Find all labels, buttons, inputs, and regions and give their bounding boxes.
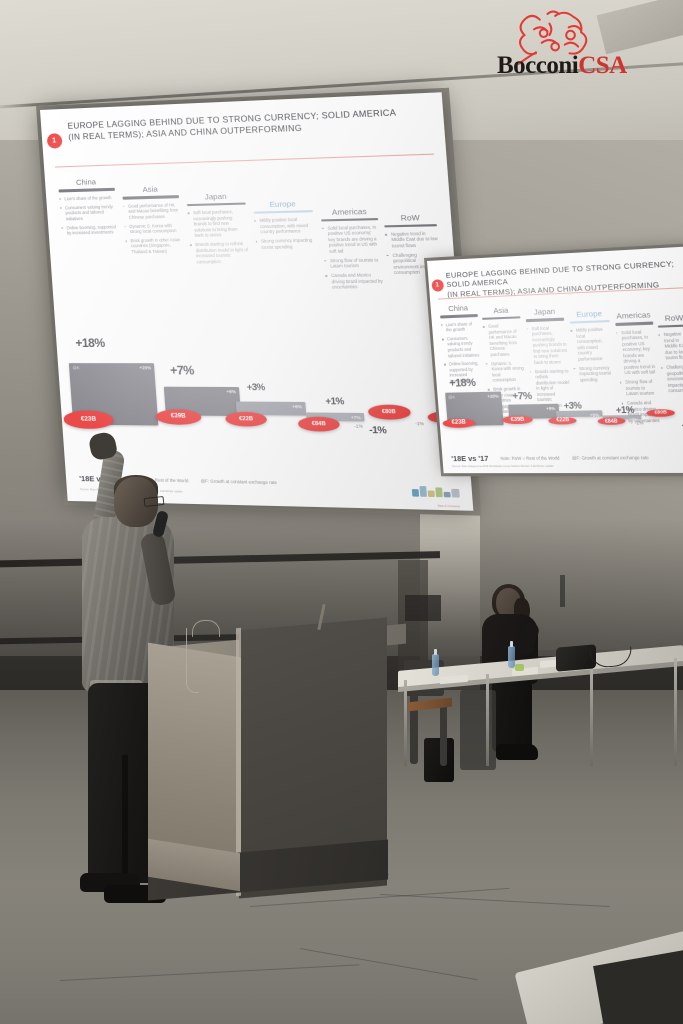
tiny-pct-a: -1% <box>635 420 644 425</box>
column-header: Americas <box>321 206 379 217</box>
list-item: Strong flow of tourists to Latam tourism <box>324 257 382 270</box>
growth-label-asia: +7% <box>169 363 194 377</box>
logo-caption: Bain & Company <box>438 504 460 508</box>
column-rule <box>657 324 683 328</box>
column-rule <box>440 314 477 318</box>
slide-canvas-secondary: 1 EUROPE LAGGING BEHIND DUE TO STRONG CU… <box>427 246 683 473</box>
constant-fx-china: +20% <box>487 393 499 398</box>
column-japan: Japan Soft local purchases, increasingly… <box>186 191 250 268</box>
table-leg <box>674 658 677 766</box>
growth-label-japan: +3% <box>563 400 581 411</box>
list-item: Negative trend in Middle East due to low… <box>385 230 438 249</box>
constant-fx-japan: +6% <box>292 404 302 409</box>
leg-gap <box>122 755 128 875</box>
value-bubble-japan: €22B <box>548 416 577 424</box>
value-bubble-japan: €22B <box>225 412 268 427</box>
list-item: Solid local purchases, in positive US ec… <box>616 329 658 377</box>
slide-title: EUROPE LAGGING BEHIND DUE TO STRONG CURR… <box>67 107 431 144</box>
value-bubble-europe: €84B <box>597 417 625 425</box>
bullet-list: Lion's share of the growth Consumers val… <box>59 195 117 237</box>
list-item: Lion's share of the growth <box>59 195 115 202</box>
table-leg <box>590 666 593 766</box>
column-header: Americas <box>614 310 653 321</box>
constant-fx-note: @K <box>448 394 455 399</box>
column-europe: Europe Mildly positive local consumption… <box>253 198 316 253</box>
secondary-projection-screen: 1 EUROPE LAGGING BEHIND DUE TO STRONG CU… <box>427 246 683 473</box>
footer-note: Note: RoW = Rest of the World <box>500 456 559 461</box>
value-bubble-asia: €39B <box>155 409 201 425</box>
footer-note-2: @F: Growth at constant exchange rate <box>572 455 649 461</box>
column-rule <box>570 320 610 324</box>
constant-fx-japan: +6% <box>590 412 600 417</box>
column-americas: Americas Solid local purchases, in posit… <box>321 206 384 294</box>
list-item: Lion's share of the growth <box>441 321 479 334</box>
column-header: Europe <box>569 308 609 319</box>
value-bubble-china: €23B <box>63 411 114 429</box>
bain-logo-icon <box>411 485 459 498</box>
list-item: Mildly positive local consumption, with … <box>570 327 613 363</box>
list-item: Consumers valuing trendy products and ta… <box>60 204 117 222</box>
lectern <box>148 614 406 898</box>
column-rule <box>122 195 179 199</box>
list-item: Brisk growth in other Asian countries (S… <box>125 237 183 255</box>
column-rule <box>385 224 437 228</box>
growth-label-asia: +7% <box>512 390 532 402</box>
column-header: Japan <box>525 307 565 318</box>
column-rule <box>59 188 115 192</box>
list-item: Consumers valuing trendy products and ta… <box>442 335 481 358</box>
column-rule <box>482 316 520 320</box>
column-rule <box>526 318 565 322</box>
footer-note-2: @F: Growth at constant exchange rate <box>201 479 278 486</box>
slide-footer: '18E vs '17 Note: RoW = Rest of the Worl… <box>451 453 683 464</box>
value-bubble-americas: €80B <box>646 409 675 417</box>
constant-fx-europe: +7% <box>351 415 361 420</box>
column-header: RoW <box>656 313 683 324</box>
list-item: Brands starting to rethink distribution … <box>190 241 250 265</box>
glasses-icon <box>144 496 165 507</box>
bullet-list: Mildly positive local consumption, with … <box>254 217 316 251</box>
column-china: China Lion's share of the growth Consume… <box>58 177 118 240</box>
market-chart: +18% @K +20% €23B +7% +9% €39B +3% +6% €… <box>437 377 683 456</box>
list-item: Online booming, supported by increased i… <box>61 224 117 236</box>
column-asia: Asia Good performance of HK and Macau be… <box>121 184 183 258</box>
tiny-pct-a: -1% <box>354 423 363 428</box>
bullet-list: Soft local purchases, increasingly pushi… <box>188 209 250 265</box>
panel-table <box>398 648 683 788</box>
column-header: Asia <box>482 305 521 316</box>
growth-label-china: +18% <box>449 377 476 390</box>
slide-source: Source: Bain-Altagamma 2018 Worldwide Lu… <box>452 464 683 468</box>
growth-label-europe: +1% <box>325 396 344 407</box>
value-bubble-americas: €80B <box>367 405 410 419</box>
list-item: Good performance of HK and Macau benefit… <box>483 323 524 358</box>
column-rule <box>321 217 378 221</box>
column-rule <box>187 202 245 206</box>
region-columns: China Lion's share of the growth Consume… <box>58 159 451 348</box>
hanging-cable <box>186 628 199 693</box>
water-bottle <box>432 654 439 676</box>
footer-period: '18E vs '17 <box>451 454 489 463</box>
lecture-hall-photo: 1 EUROPE LAGGING BEHIND DUE TO STRONG CU… <box>0 0 683 1024</box>
column-header: Japan <box>186 191 245 202</box>
column-header: Europe <box>253 198 313 209</box>
constant-fx-china: +20% <box>139 365 151 370</box>
list-item: Solid local purchases, in positive US ec… <box>322 224 381 254</box>
column-header: China <box>58 177 114 188</box>
list-item: Soft local purchases, increasingly pushi… <box>188 209 248 239</box>
slide-number-badge: 1 <box>431 279 444 292</box>
list-item: Good performance of HK and Macau benefit… <box>123 202 181 220</box>
water-bottle <box>508 646 515 668</box>
slide-number-badge: 1 <box>46 133 62 149</box>
growth-label-china: +18% <box>75 336 105 350</box>
column-rule <box>615 322 653 326</box>
list-item: Soft local purchases, increasingly pushi… <box>526 325 568 366</box>
list-item: Negative trend in Middle East due to low… <box>658 331 683 361</box>
list-item: Dynamic S. Korea with strong local consu… <box>124 222 182 235</box>
column-rule <box>253 210 313 214</box>
growth-label-americas: -1% <box>369 425 387 437</box>
constant-fx-asia: +9% <box>546 405 556 410</box>
bullet-list: Solid local purchases, in positive US ec… <box>322 224 384 290</box>
bullet-list: Mildly positive local consumption, with … <box>570 327 614 383</box>
list-item: Strong currency impacting tourist spendi… <box>255 237 315 250</box>
region-columns: China Lion's share of the growth Consume… <box>439 292 683 393</box>
value-bubble-europe: €84B <box>298 417 340 431</box>
column-europe: Europe Mildly positive local consumption… <box>569 308 615 386</box>
cable-loop <box>192 620 220 637</box>
column-header: RoW <box>384 212 437 223</box>
value-bubble-asia: €39B <box>502 416 533 425</box>
list-item: Canada and Mexico driving Brazil impacte… <box>325 272 383 290</box>
constant-fx-note: @K <box>72 365 79 370</box>
list-item: Dynamic S. Korea with strong local consu… <box>486 360 526 384</box>
column-header: Asia <box>121 184 178 195</box>
column-china: China Lion's share of the growth Consume… <box>439 303 483 388</box>
bullet-list: Lion's share of the growth Consumers val… <box>441 321 483 385</box>
handbag <box>556 644 596 671</box>
green-object <box>515 664 524 671</box>
constant-fx-asia: +9% <box>226 389 236 394</box>
growth-label-japan: +3% <box>246 382 265 392</box>
value-bubble-china: €23B <box>442 418 476 428</box>
table-leg <box>486 674 489 766</box>
tiny-pct-b: -1% <box>415 421 424 426</box>
bullet-list: Good performance of HK and Macau benefit… <box>123 202 184 255</box>
list-item: Mildly positive local consumption, with … <box>254 217 315 236</box>
column-header: China <box>439 303 477 314</box>
